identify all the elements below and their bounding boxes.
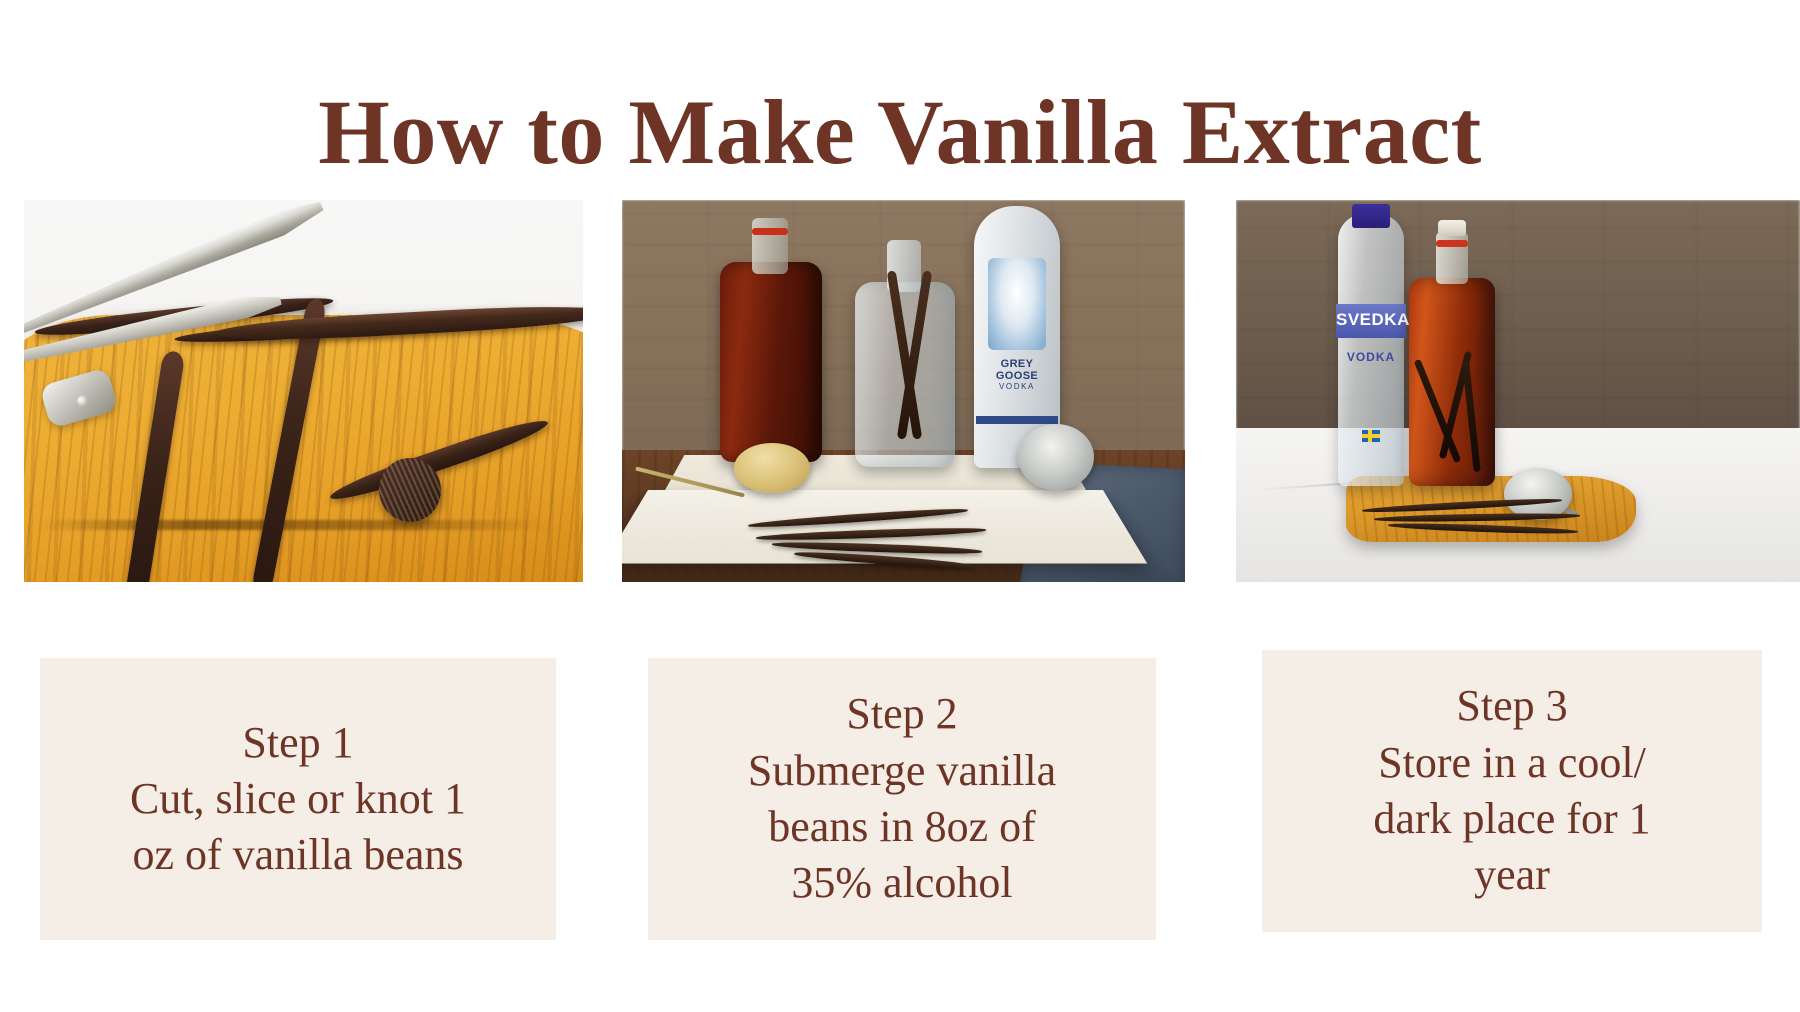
step-2-photo: GREY GOOSE VODKA: [622, 200, 1185, 582]
step-3-photo: SVEDKA VODKA: [1236, 200, 1800, 582]
step-1-label: Step 1: [242, 715, 353, 771]
step-1-photo: [24, 200, 583, 582]
step-3-label: Step 3: [1456, 678, 1567, 734]
swing-top-gasket: [1436, 240, 1468, 247]
submerged-vanilla-beans: [1418, 350, 1488, 478]
step-2-photo-scene: GREY GOOSE VODKA: [622, 200, 1185, 582]
swedish-flag-icon: [1362, 430, 1380, 442]
swing-top-cap: [1438, 220, 1466, 236]
step-card-3: Step 3 Store in a cool/ dark place for 1…: [1262, 650, 1762, 932]
mesh-strainer: [734, 443, 810, 493]
infographic-page: How to Make Vanilla Extract: [0, 0, 1800, 1012]
vodka-brand-name: GREY GOOSE: [996, 358, 1038, 382]
step-1-description: Cut, slice or knot 1 oz of vanilla beans: [130, 771, 466, 884]
step-3-photo-scene: SVEDKA VODKA: [1236, 200, 1800, 582]
submerged-vanilla-beans: [880, 270, 940, 460]
vodka-type-name: VODKA: [978, 382, 1056, 391]
brick-wall-backdrop: [1236, 200, 1800, 432]
loose-vanilla-beans: [742, 510, 1012, 570]
step-2-description: Submerge vanilla beans in 8oz of 35% alc…: [748, 743, 1056, 912]
step-3-description: Store in a cool/ dark place for 1 year: [1373, 735, 1650, 904]
swing-top-gasket: [752, 228, 788, 235]
grey-goose-brand-text: GREY GOOSE VODKA: [978, 358, 1056, 391]
metal-funnel: [1018, 424, 1094, 490]
step-card-1: Step 1 Cut, slice or knot 1 oz of vanill…: [40, 658, 556, 940]
dark-extract-bottle: [720, 262, 822, 462]
page-title: How to Make Vanilla Extract: [0, 80, 1800, 186]
svedka-brand-text: SVEDKA: [1336, 310, 1406, 330]
loose-vanilla-beans: [1358, 500, 1608, 540]
step-2-label: Step 2: [846, 686, 957, 742]
step-1-photo-scene: [24, 200, 583, 582]
vodka-bottle-cap: [1352, 204, 1390, 228]
svedka-type-text: VODKA: [1336, 350, 1406, 364]
label-stripe: [976, 416, 1058, 424]
step-card-2: Step 2 Submerge vanilla beans in 8oz of …: [648, 658, 1156, 940]
bottle-neck: [752, 218, 788, 274]
goose-label-art: [988, 258, 1046, 350]
